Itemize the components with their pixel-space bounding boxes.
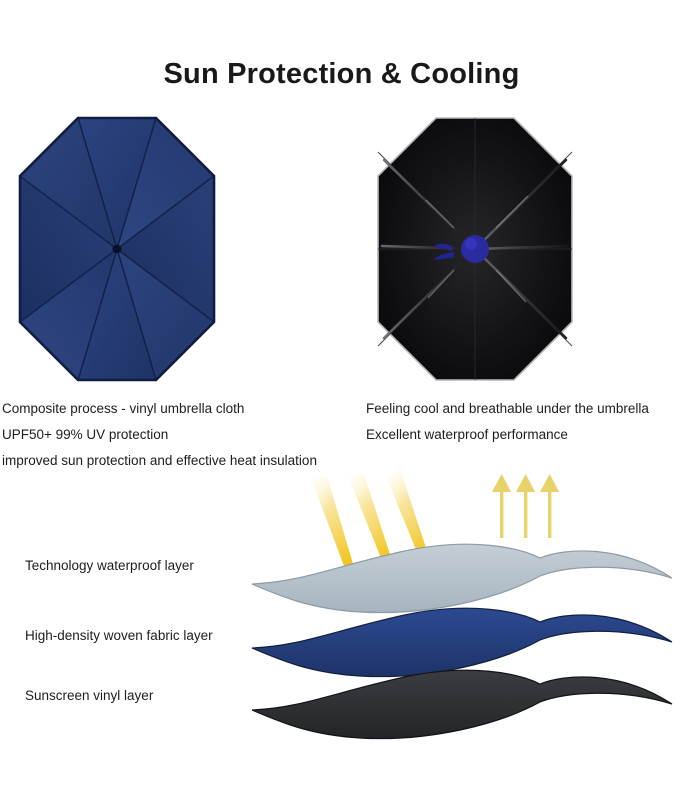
navy-umbrella-image — [18, 116, 216, 382]
reflected-heat-rays — [492, 474, 559, 538]
page-title: Sun Protection & Cooling — [0, 58, 683, 91]
black-umbrella-image — [376, 116, 574, 382]
layer-label-vinyl: Sunscreen vinyl layer — [25, 688, 153, 703]
canopy-center-tip — [112, 245, 121, 253]
feature-line: Composite process - vinyl umbrella cloth — [2, 396, 362, 422]
feature-line: UPF50+ 99% UV protection — [2, 422, 362, 448]
navy-umbrella-features: Composite process - vinyl umbrella cloth… — [2, 396, 362, 474]
layer-sheet-vinyl — [252, 670, 672, 738]
infographic-page: Sun Protection & Cooling — [0, 0, 683, 800]
layer-sheet-fabric — [252, 608, 672, 676]
black-umbrella-features: Feeling cool and breathable under the um… — [366, 396, 683, 448]
fabric-layer-diagram: Technology waterproof layer High-density… — [0, 470, 683, 760]
layer-sheet-waterproof — [252, 544, 672, 612]
layer-label-waterproof: Technology waterproof layer — [25, 558, 194, 573]
layer-label-fabric: High-density woven fabric layer — [25, 628, 213, 643]
feature-line: Feeling cool and breathable under the um… — [366, 396, 683, 422]
feature-line: Excellent waterproof performance — [366, 422, 683, 448]
